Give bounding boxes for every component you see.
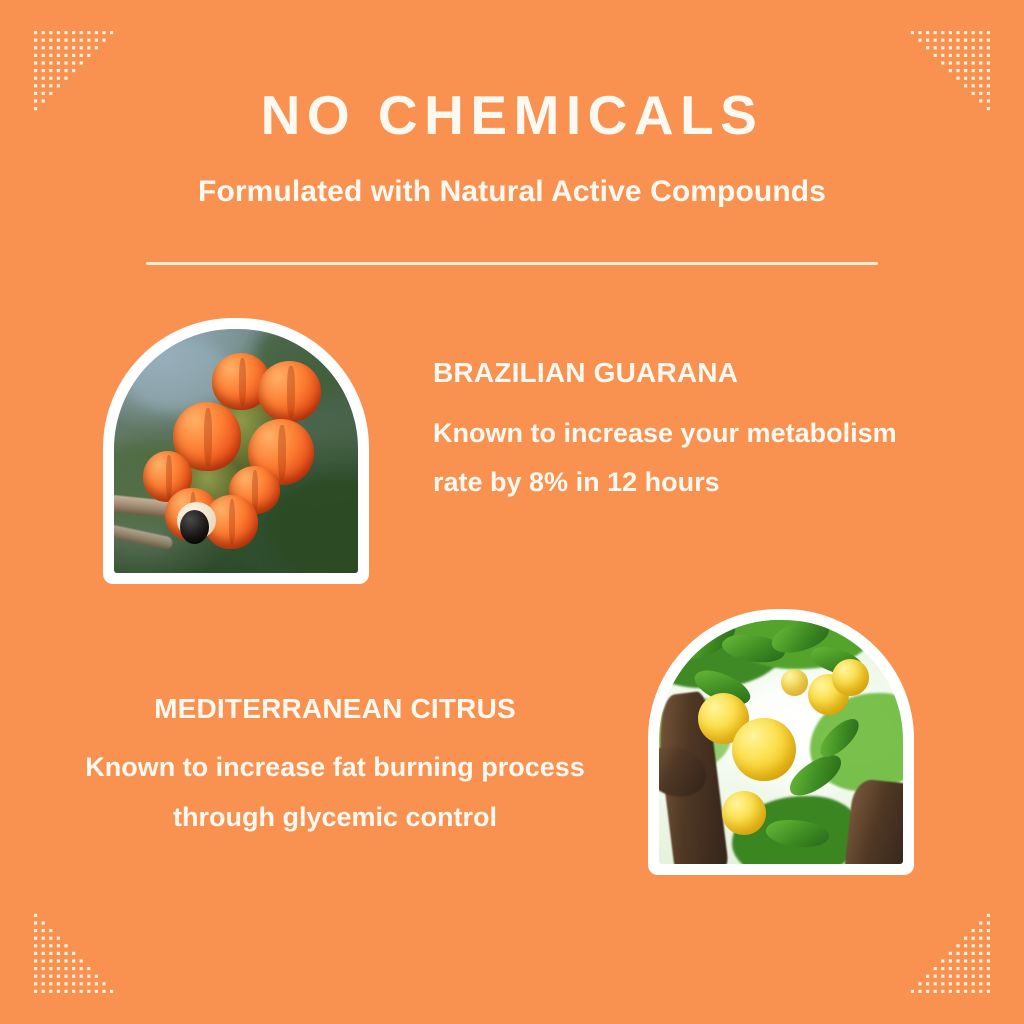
corner-dots-bottom-right — [894, 897, 990, 993]
feature-block-guarana: BRAZILIAN GUARANA Known to increase your… — [433, 357, 903, 507]
guarana-image-frame — [103, 318, 369, 584]
feature-title-citrus: MEDITERRANEAN CITRUS — [55, 693, 615, 725]
feature-body-guarana: Known to increase your metabolism rate b… — [433, 389, 903, 507]
citrus-image — [659, 620, 903, 864]
page-subtitle: Formulated with Natural Active Compounds — [0, 143, 1024, 209]
citrus-image-frame — [648, 609, 914, 875]
feature-block-citrus: MEDITERRANEAN CITRUS Known to increase f… — [55, 693, 615, 842]
header: NO CHEMICALS Formulated with Natural Act… — [0, 0, 1024, 209]
guarana-photo-art — [114, 329, 358, 573]
promo-canvas: NO CHEMICALS Formulated with Natural Act… — [0, 0, 1024, 1024]
feature-title-guarana: BRAZILIAN GUARANA — [433, 357, 903, 389]
corner-dots-bottom-left — [34, 897, 130, 993]
header-divider — [146, 262, 878, 265]
feature-body-citrus: Known to increase fat burning process th… — [55, 725, 615, 842]
guarana-image — [114, 329, 358, 573]
citrus-photo-art — [659, 620, 903, 864]
page-title: NO CHEMICALS — [0, 0, 1024, 143]
